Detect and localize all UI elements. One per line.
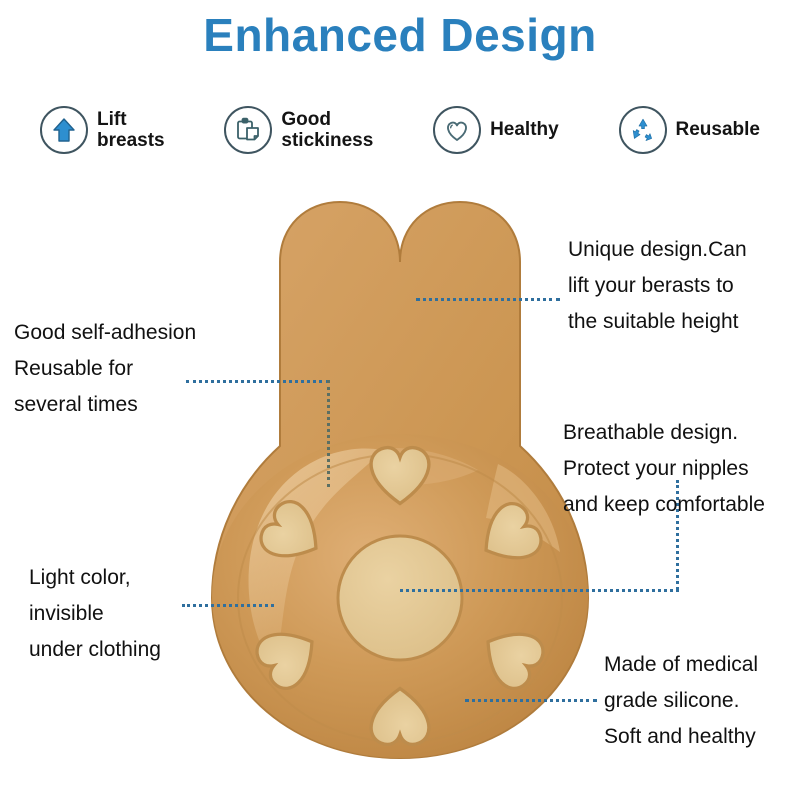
feature-good-stickiness: Good stickiness bbox=[224, 106, 373, 154]
leader-line-adhesion bbox=[186, 380, 329, 383]
feature-reusable: Reusable bbox=[619, 106, 760, 154]
page-title: Enhanced Design bbox=[0, 8, 800, 63]
leader-line-adhesion-vertical bbox=[327, 380, 330, 487]
leader-line-silicone bbox=[465, 699, 597, 702]
leader-line-light-color bbox=[182, 604, 274, 607]
callout-unique-design: Unique design.Can lift your berasts to t… bbox=[568, 232, 747, 340]
center-pad bbox=[338, 536, 462, 660]
clipboard-note-icon bbox=[224, 106, 272, 154]
feature-label: Good stickiness bbox=[281, 109, 373, 152]
feature-healthy: Healthy bbox=[433, 106, 559, 154]
feature-label: Reusable bbox=[676, 119, 760, 140]
callout-medical-grade-silicone: Made of medical grade silicone. Soft and… bbox=[604, 647, 758, 755]
callout-light-color: Light color, invisible under clothing bbox=[29, 560, 161, 668]
feature-label: Healthy bbox=[490, 119, 559, 140]
leader-line-breathable bbox=[400, 589, 679, 592]
recycle-icon bbox=[619, 106, 667, 154]
leader-line-unique-design bbox=[416, 298, 560, 301]
callout-good-self-adhesion: Good self-adhesion Reusable for several … bbox=[14, 315, 196, 423]
product-infographic: Enhanced Design Lift breasts bbox=[0, 0, 800, 800]
feature-label: Lift breasts bbox=[97, 109, 165, 152]
feature-lift-breasts: Lift breasts bbox=[40, 106, 165, 154]
heart-outline-icon bbox=[433, 106, 481, 154]
up-arrow-icon bbox=[40, 106, 88, 154]
feature-badge-row: Lift breasts Good stickiness bbox=[40, 97, 760, 163]
callout-breathable-design: Breathable design. Protect your nipples … bbox=[563, 415, 765, 523]
